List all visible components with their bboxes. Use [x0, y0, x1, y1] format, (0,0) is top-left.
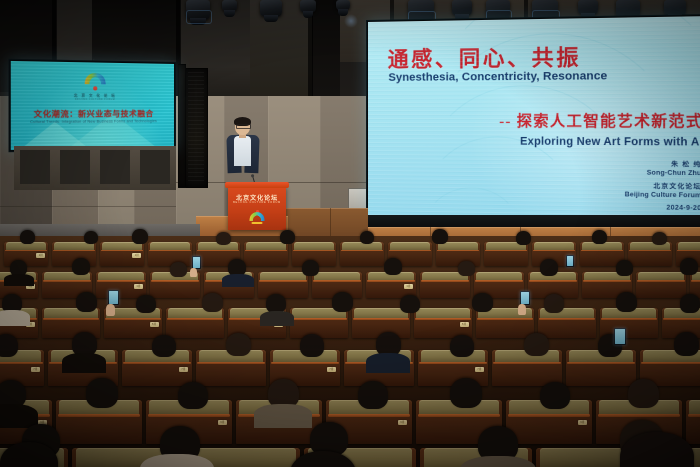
main-led-screen: 通感、同心、共振 Synesthesia, Concentricity, Res… [366, 14, 700, 226]
presenter-name-en: Song-Chun Zhu [625, 170, 700, 180]
speaker-figure [226, 118, 260, 190]
seat-row: 7排 7排 7排 7排 [0, 332, 700, 380]
slide-subtitle-cn: -- 探索人工智能艺术新范式 [499, 110, 700, 132]
stage-light-icon [300, 0, 316, 13]
speaker-podium: 北京文化论坛 BEIJING CULTURE FORUM [228, 186, 286, 230]
stage-light-icon [336, 0, 350, 11]
seat-number-plate: 3排 [404, 284, 413, 289]
seat-row: 5排 5排 5排 5排 [0, 294, 700, 334]
forum-emblem-icon [249, 210, 266, 224]
seat-number-plate: 3排 [134, 284, 143, 289]
seat-number-plate: 7排 [179, 367, 188, 372]
forum-logo: 北 京 文 化 论 坛 BEIJING CULTURE FORUM [11, 70, 174, 101]
seat-number-plate: 7排 [475, 367, 484, 372]
base-panel [60, 150, 90, 184]
left-logo-en: BEIJING CULTURE FORUM [11, 99, 174, 101]
pa-speaker-column [184, 68, 208, 188]
seat-row: 3排 3排 3排 [0, 262, 700, 296]
slide-presenter-block: 朱 松 纯 Song-Chun Zhu 北京文化论坛 Beijing Cultu… [625, 161, 700, 214]
seat-number-plate: 2排 [132, 253, 141, 258]
seat-number-plate: 7排 [31, 367, 40, 372]
event-name-en: Beijing Culture Forum [625, 191, 700, 201]
smartphone-icon [520, 291, 530, 305]
left-logo-cn: 北 京 文 化 论 坛 [11, 92, 174, 98]
smartphone-icon [566, 255, 574, 267]
stage-light-icon [452, 0, 472, 16]
arch-logo-icon [85, 73, 106, 85]
podium-label-en: BEIJING CULTURE FORUM [228, 201, 286, 204]
glasses-icon [236, 124, 251, 129]
base-panel [100, 150, 130, 184]
auditorium-photo: 北 京 文 化 论 坛 BEIJING CULTURE FORUM 文化潮流：新… [0, 0, 700, 467]
seat-number-plate: 5排 [150, 322, 159, 327]
logo-dot-icon [93, 86, 97, 90]
audience-seating: 2排 2排 3排 [0, 236, 700, 467]
base-panel [20, 150, 50, 184]
smartphone-icon [614, 328, 626, 345]
left-screen-title-cn: 文化潮流：新兴业态与技术融合 [11, 108, 174, 120]
pa-speaker-column [178, 64, 186, 188]
seat-number-plate: 5排 [460, 322, 469, 327]
base-panel [140, 150, 170, 184]
seat-number-plate: 9排 [218, 420, 227, 425]
slide-title-en: Synesthesia, Concentricity, Resonance [388, 70, 607, 84]
slide-date: 2024-9-20 [625, 204, 700, 214]
stage-light-icon [578, 0, 598, 15]
stage-light-icon [222, 0, 237, 12]
seat-number-plate: 7排 [327, 367, 336, 372]
seat-number-plate: 9排 [398, 420, 407, 425]
seat-number-plate: 2排 [36, 253, 45, 258]
seat-number-plate: 9排 [578, 420, 587, 425]
slide-title-cn: 通感、同心、共振 [388, 41, 581, 74]
left-screen-title-en: Cultural Trends: Integration of New Busi… [11, 119, 174, 124]
stage-light-icon [260, 0, 282, 17]
slide-subtitle-en: Exploring New Art Forms with AI [520, 135, 700, 148]
seat-row: 9排 9排 9排 9排 [0, 378, 700, 434]
left-led-screen: 北 京 文 化 论 坛 BEIJING CULTURE FORUM 文化潮流：新… [9, 59, 176, 152]
smartphone-icon [108, 290, 119, 305]
